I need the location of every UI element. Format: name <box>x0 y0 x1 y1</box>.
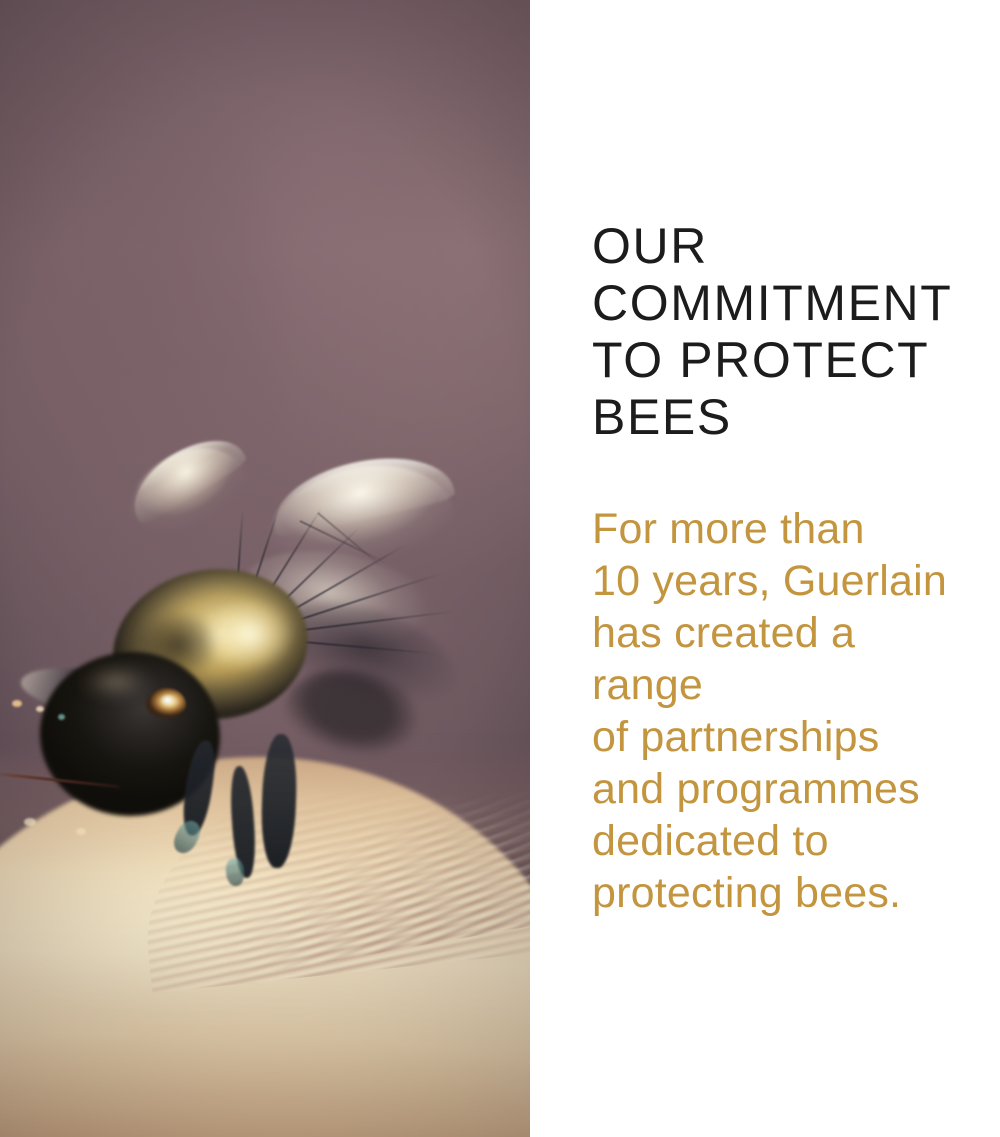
body-paragraph: For more than 10 years, Guerlain has cre… <box>592 503 970 919</box>
page-title: OUR COMMITMENT TO PROTECT BEES <box>592 218 970 446</box>
photo-vignette <box>0 0 530 1137</box>
text-panel: OUR COMMITMENT TO PROTECT BEES For more … <box>530 0 1000 1137</box>
bee-commitment-page: OUR COMMITMENT TO PROTECT BEES For more … <box>0 0 1000 1137</box>
bee-photograph <box>0 0 530 1137</box>
